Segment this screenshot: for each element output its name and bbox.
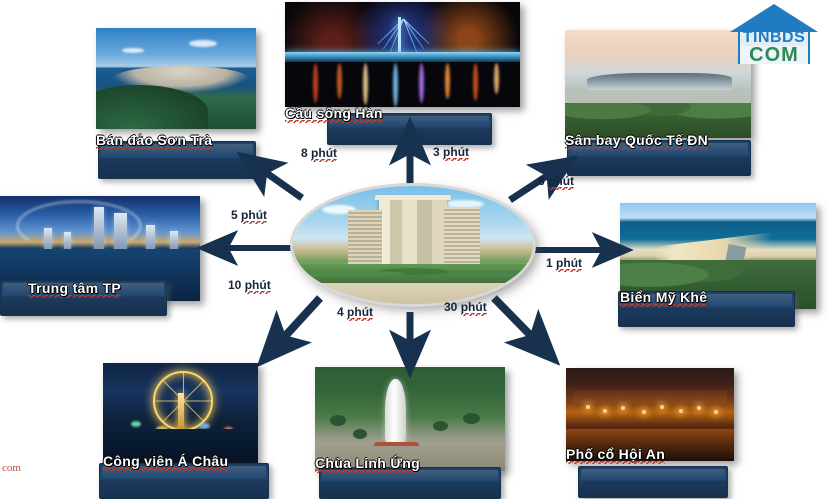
distance-trung-tam-upper: 5 phút	[231, 208, 267, 222]
plate-trung-tam-tp	[0, 280, 167, 316]
photo-pho-co-hoi-an[interactable]	[566, 368, 734, 461]
photo-ban-dao-son-tra[interactable]	[96, 28, 256, 129]
project-center-oval[interactable]	[293, 186, 533, 304]
plate-cong-vien-a-chau	[99, 463, 269, 499]
arrow-to-cong-vien	[277, 298, 320, 345]
photo-chua-linh-ung[interactable]	[315, 367, 505, 471]
plate-pho-co-hoi-an	[578, 466, 728, 498]
distance-pho-co-hoi-an: 30 phút	[444, 300, 487, 314]
plate-bien-my-khe	[618, 291, 795, 327]
plate-ban-dao-son-tra	[98, 141, 256, 179]
plate-chua-linh-ung	[319, 467, 501, 499]
plate-cau-song-han	[327, 113, 492, 145]
distance-son-tra: 8 phút	[301, 146, 337, 160]
distance-cong-vien: 4 phút	[337, 305, 373, 319]
infographic-canvas: 8 phút 3 phút 8 phút 5 phút 10 phút 1 ph…	[0, 0, 830, 475]
distance-trung-tam-lower: 10 phút	[228, 278, 271, 292]
distance-bien-my-khe: 1 phút	[546, 256, 582, 270]
distance-cau-song-han: 3 phút	[433, 145, 469, 159]
distance-san-bay: 8 phút	[538, 174, 574, 188]
watermark-text: com	[2, 462, 21, 474]
photo-cau-song-han[interactable]	[285, 2, 520, 107]
arrow-to-pho-co-hoi-an	[494, 298, 539, 344]
tinbds-logo[interactable]: TINBDS COM	[726, 2, 822, 68]
plate-san-bay	[567, 140, 751, 176]
photo-cong-vien-a-chau[interactable]	[103, 363, 258, 463]
photo-san-bay[interactable]	[565, 30, 751, 138]
logo-line-2: COM	[726, 44, 822, 67]
